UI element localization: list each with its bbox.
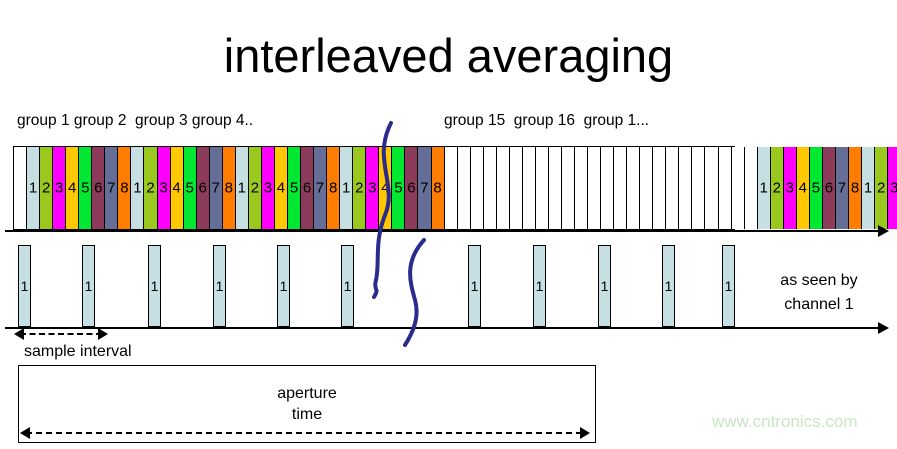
bar-blank-cell-middle	[445, 147, 458, 229]
sample-cell-digit: 1	[29, 181, 37, 196]
sample-cell-digit: 2	[355, 181, 363, 196]
sample-cell-ch7: 7	[210, 147, 223, 229]
sample-cell-ch5: 5	[810, 147, 823, 229]
time-axis-top-arrow-icon	[878, 225, 889, 237]
sample-cell-digit: 7	[212, 181, 220, 196]
bar-blank-cell-middle	[614, 147, 627, 229]
channel1-pulse-label: 1	[536, 278, 544, 294]
sample-cell-digit: 8	[851, 181, 859, 196]
channel1-pulse: 1	[82, 245, 95, 327]
sample-cell-digit: 5	[394, 181, 402, 196]
sample-cell-digit: 5	[290, 181, 298, 196]
sample-cell-ch8: 8	[327, 147, 340, 229]
bar-blank-cell-middle	[679, 147, 692, 229]
bar-blank-cell-middle	[627, 147, 640, 229]
sample-cell-ch5: 5	[79, 147, 92, 229]
sample-cell-ch7: 7	[836, 147, 849, 229]
channel-caption: as seen by channel 1	[744, 269, 894, 317]
sample-cell-ch1: 1	[862, 147, 875, 229]
channel1-pulse-label: 1	[85, 278, 93, 294]
channel1-pulse: 1	[468, 245, 481, 327]
sample-cell-ch1: 1	[131, 147, 144, 229]
sample-cell-ch4: 4	[797, 147, 810, 229]
sample-cell-digit: 2	[42, 181, 50, 196]
sample-cell-ch5: 5	[392, 147, 405, 229]
bar-blank-cell-middle	[640, 147, 653, 229]
aperture-time-arrow-right-icon	[580, 427, 590, 439]
sample-cell-ch2: 2	[40, 147, 53, 229]
channel1-pulse: 1	[18, 245, 31, 327]
sample-cell-digit: 3	[264, 181, 272, 196]
sample-cell-digit: 7	[420, 181, 428, 196]
sample-cell-ch6: 6	[405, 147, 418, 229]
sample-cell-digit: 7	[107, 181, 115, 196]
bar-blank-cell-middle	[719, 147, 732, 229]
sample-cell-ch5: 5	[184, 147, 197, 229]
bar-blank-cell-middle	[562, 147, 575, 229]
sample-cell-digit: 2	[773, 181, 781, 196]
sample-cell-ch8: 8	[118, 147, 131, 229]
sample-cell-ch2: 2	[249, 147, 262, 229]
page-title: interleaved averaging	[0, 32, 897, 79]
bar-blank-cell-middle	[549, 147, 562, 229]
sample-cell-digit: 2	[146, 181, 154, 196]
sample-cell-ch3: 3	[158, 147, 171, 229]
bar-blank-cell-middle	[588, 147, 601, 229]
sample-cell-ch2: 2	[771, 147, 784, 229]
sample-cell-ch4: 4	[171, 147, 184, 229]
bar-blank-cell-middle	[575, 147, 588, 229]
bar-blank-cell-middle	[510, 147, 523, 229]
time-axis-bottom-arrow-icon	[878, 322, 889, 334]
bar-blank-cell-middle	[601, 147, 614, 229]
channel1-pulse-label: 1	[344, 278, 352, 294]
sample-cell-ch3: 3	[262, 147, 275, 229]
sample-cell-digit: 7	[838, 181, 846, 196]
sample-cell-digit: 5	[812, 181, 820, 196]
channel1-pulse-label: 1	[601, 278, 609, 294]
channel1-pulse-label: 1	[216, 278, 224, 294]
bar-blank-cell-middle	[458, 147, 471, 229]
sample-cell-ch6: 6	[197, 147, 210, 229]
aperture-time-dashed-line	[26, 432, 582, 434]
channel1-pulse: 1	[341, 245, 354, 327]
sample-interval-arrow-right-icon	[98, 328, 108, 340]
sample-cell-digit: 6	[303, 181, 311, 196]
bar-blank-cell-middle	[536, 147, 549, 229]
sample-cell-ch7: 7	[418, 147, 431, 229]
bar-blank-cell-middle	[745, 147, 758, 229]
sample-cell-ch6: 6	[823, 147, 836, 229]
sample-cell-ch8: 8	[432, 147, 445, 229]
bar-blank-cell-middle	[497, 147, 510, 229]
group-labels-right: group 15 group 16 group 1...	[444, 112, 649, 130]
sample-cell-digit: 3	[786, 181, 794, 196]
sample-cell-digit: 1	[238, 181, 246, 196]
sample-interval-dashed-line	[20, 333, 102, 335]
sample-cell-digit: 1	[133, 181, 141, 196]
sample-cell-digit: 4	[799, 181, 807, 196]
group-labels-left: group 1 group 2 group 3 group 4..	[17, 112, 253, 130]
channel1-pulse-label: 1	[21, 278, 29, 294]
sample-cell-digit: 8	[329, 181, 337, 196]
interleaved-sample-bar: 1234567812345678123456781234567812345678…	[13, 146, 735, 230]
sample-cell-digit: 1	[864, 181, 872, 196]
sample-cell-ch1: 1	[340, 147, 353, 229]
sample-cell-ch4: 4	[275, 147, 288, 229]
sample-cell-digit: 2	[877, 181, 885, 196]
sample-cell-digit: 2	[251, 181, 259, 196]
bar-blank-cell-middle	[666, 147, 679, 229]
sample-cell-digit: 5	[185, 181, 193, 196]
sample-cell-ch7: 7	[105, 147, 118, 229]
sample-cell-digit: 6	[94, 181, 102, 196]
aperture-time-label: aperture time	[18, 383, 596, 425]
sample-cell-digit: 3	[159, 181, 167, 196]
sample-cell-ch2: 2	[875, 147, 888, 229]
channel1-pulse-label: 1	[151, 278, 159, 294]
bar-blank-cell-middle	[653, 147, 666, 229]
sample-cell-ch3: 3	[888, 147, 897, 229]
channel1-pulse-label: 1	[280, 278, 288, 294]
sample-cell-ch6: 6	[92, 147, 105, 229]
sample-cell-ch1: 1	[758, 147, 771, 229]
bar-blank-cell-middle	[484, 147, 497, 229]
channel1-pulse: 1	[277, 245, 290, 327]
site-watermark: www.cntronics.com	[712, 412, 857, 432]
sample-cell-digit: 3	[890, 181, 897, 196]
sample-cell-digit: 4	[277, 181, 285, 196]
sample-cell-ch8: 8	[849, 147, 862, 229]
sample-cell-ch4: 4	[379, 147, 392, 229]
channel-caption-line1: as seen by	[744, 269, 894, 293]
sample-cell-digit: 4	[381, 181, 389, 196]
sample-interval-label: sample interval	[24, 343, 132, 361]
channel1-pulse: 1	[533, 245, 546, 327]
channel1-pulse-label: 1	[725, 278, 733, 294]
channel1-pulse: 1	[722, 245, 735, 327]
bar-blank-cell-middle	[692, 147, 705, 229]
channel1-pulse: 1	[662, 245, 675, 327]
time-axis-top	[5, 230, 881, 232]
sample-cell-digit: 4	[68, 181, 76, 196]
bar-blank-cell-middle	[732, 147, 745, 229]
aperture-time-label-line1: aperture	[18, 383, 596, 404]
sample-cell-digit: 3	[368, 181, 376, 196]
sample-cell-digit: 8	[120, 181, 128, 196]
sample-cell-digit: 1	[342, 181, 350, 196]
sample-cell-digit: 8	[433, 181, 441, 196]
channel1-pulse: 1	[213, 245, 226, 327]
channel1-pulse-label: 1	[471, 278, 479, 294]
sample-cell-ch3: 3	[366, 147, 379, 229]
sample-cell-ch1: 1	[236, 147, 249, 229]
sample-cell-digit: 6	[407, 181, 415, 196]
channel1-pulse: 1	[598, 245, 611, 327]
aperture-time-label-line2: time	[18, 404, 596, 425]
sample-cell-digit: 1	[760, 181, 768, 196]
bar-blank-cell-middle	[523, 147, 536, 229]
sample-cell-ch1: 1	[27, 147, 40, 229]
bar-blank-cell-leading	[14, 147, 27, 229]
sample-cell-digit: 6	[825, 181, 833, 196]
channel-caption-line2: channel 1	[744, 293, 894, 317]
break-squiggle-icon-2	[405, 240, 424, 345]
sample-cell-ch5: 5	[288, 147, 301, 229]
sample-cell-ch8: 8	[223, 147, 236, 229]
sample-cell-digit: 7	[316, 181, 324, 196]
sample-cell-digit: 8	[225, 181, 233, 196]
sample-cell-ch7: 7	[314, 147, 327, 229]
channel1-pulse-label: 1	[665, 278, 673, 294]
sample-cell-digit: 4	[172, 181, 180, 196]
sample-cell-ch3: 3	[53, 147, 66, 229]
sample-cell-ch6: 6	[301, 147, 314, 229]
sample-cell-digit: 6	[199, 181, 207, 196]
sample-cell-ch3: 3	[784, 147, 797, 229]
sample-cell-ch2: 2	[353, 147, 366, 229]
sample-cell-digit: 3	[55, 181, 63, 196]
sample-cell-ch4: 4	[66, 147, 79, 229]
time-axis-bottom	[5, 327, 881, 329]
bar-blank-cell-middle	[705, 147, 718, 229]
bar-blank-cell-middle	[471, 147, 484, 229]
sample-cell-ch2: 2	[144, 147, 157, 229]
channel1-pulse: 1	[148, 245, 161, 327]
sample-cell-digit: 5	[81, 181, 89, 196]
